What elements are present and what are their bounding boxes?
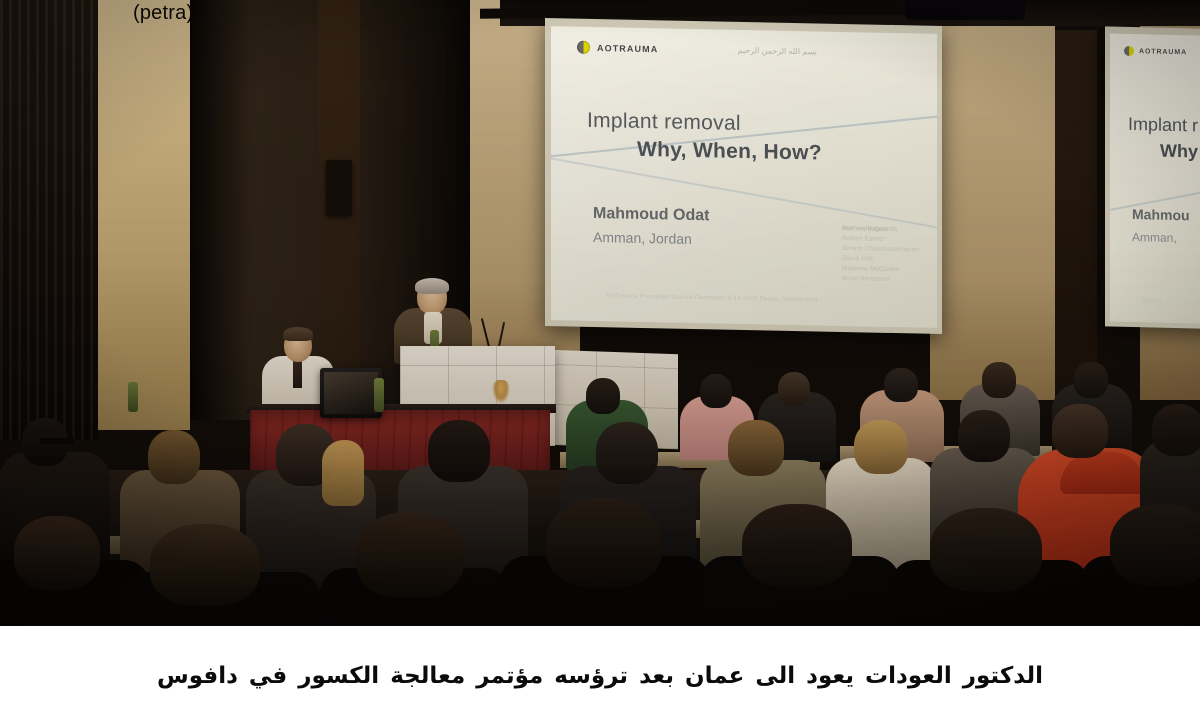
slide-footer-text: AOTrauma Principles Course December 9-14… <box>606 293 817 303</box>
secondary-slide-footer: AOTrau <box>1142 298 1161 304</box>
foreground-audience-head <box>742 504 852 588</box>
secondary-aotrauma-logo-text: AOTRAUMA <box>1139 48 1187 56</box>
wall-panel-left <box>95 0 190 430</box>
foreground-audience-head <box>356 512 464 598</box>
caption-bar: الدكتور العودات يعود الى عمان بعد ترؤسه … <box>0 626 1200 726</box>
audience-member-head <box>982 362 1016 398</box>
main-slide: AOTRAUMA بسم الله الرحمن الرحيم Implant … <box>551 26 937 328</box>
aotrauma-mark-icon <box>577 41 590 54</box>
secondary-projection-screen: AOTRAUMA Implant r Why Mahmou Amman, AOT… <box>1105 26 1200 329</box>
wall-panel-right <box>930 0 1055 400</box>
caption-text: الدكتور العودات يعود الى عمان بعد ترؤسه … <box>157 663 1043 689</box>
audience-member-head <box>428 420 490 482</box>
podium-emblem <box>492 380 510 404</box>
foreground-audience-head <box>14 516 100 590</box>
secondary-slide-author: Mahmou <box>1132 206 1190 223</box>
seated-presider-tie <box>293 358 302 388</box>
screenshot-root: AOTRAUMA بسم الله الرحمن الرحيم Implant … <box>0 0 1200 726</box>
main-projection-screen: AOTRAUMA بسم الله الرحمن الرحيم Implant … <box>545 18 942 334</box>
slide-author-affiliation: Amman, Jordan <box>593 229 692 247</box>
audience-member-head <box>148 430 200 484</box>
speaker-hair <box>415 278 449 294</box>
secondary-slide: AOTRAUMA Implant r Why Mahmou Amman, AOT… <box>1110 34 1200 325</box>
stage-curtain <box>0 0 98 440</box>
water-bottle-table-right <box>374 378 384 412</box>
slide-title-line-1: Implant removal <box>587 109 741 136</box>
audience-member-head <box>854 420 908 474</box>
audience-member-head <box>884 368 918 402</box>
seated-presider-hair <box>283 327 313 341</box>
aotrauma-logo-text: AOTRAUMA <box>597 43 658 54</box>
secondary-aotrauma-logo: AOTRAUMA <box>1124 46 1187 57</box>
wall-loudspeaker <box>326 160 352 216</box>
aotrauma-logo: AOTRAUMA <box>577 41 658 56</box>
secondary-aotrauma-mark-icon <box>1124 46 1134 56</box>
audience-member-head <box>700 374 732 408</box>
slide-author-name: Mahmoud Odat <box>593 205 709 225</box>
audience-member-head <box>596 422 658 484</box>
wall-dark-strip <box>1055 30 1097 400</box>
audience-member-head <box>586 378 620 414</box>
lecture-hall-photograph: AOTRAUMA بسم الله الرحمن الرحيم Implant … <box>0 0 1200 626</box>
ceiling-projector <box>905 0 1025 20</box>
acknowledgment-name: Brian Bernstein <box>842 274 919 286</box>
audience-member-head <box>1052 404 1108 458</box>
slide-acknowledgments: Acknowledgments Mathew Buhari Robert Est… <box>842 224 919 286</box>
audience-member-glasses <box>40 438 74 444</box>
slide-basmala-text: بسم الله الرحمن الرحيم <box>738 46 817 57</box>
foreground-audience-head <box>930 508 1042 592</box>
audience-member-ponytail <box>322 440 364 506</box>
foreground-audience-head <box>1110 504 1200 586</box>
audience-member-head <box>1152 404 1200 456</box>
foreground-audience-head <box>546 498 662 588</box>
confidence-monitor <box>320 368 382 418</box>
foreground-audience-head <box>150 524 260 606</box>
audience-member-head <box>1074 362 1108 398</box>
secondary-slide-title-line-2: Why <box>1160 141 1198 163</box>
audience-member-head <box>728 420 784 476</box>
audience-member-head <box>778 372 810 406</box>
secondary-slide-title-line-1: Implant r <box>1128 114 1198 137</box>
slide-title-line-2: Why, When, How? <box>637 138 822 166</box>
petra-watermark: (petra) <box>133 2 193 25</box>
confidence-monitor-screen <box>324 372 378 414</box>
audience-member-head <box>958 410 1010 462</box>
water-bottle-table-left <box>128 382 138 412</box>
secondary-slide-affiliation: Amman, <box>1132 230 1177 245</box>
